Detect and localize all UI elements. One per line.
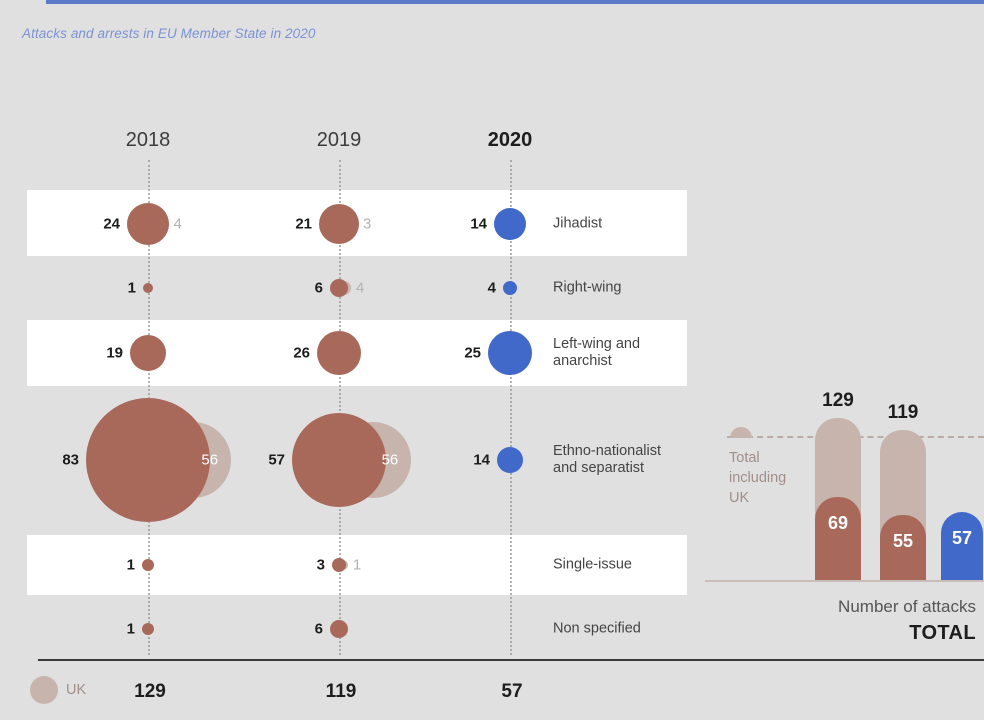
uk-value-2019-4: 1 [353,557,361,574]
eu-value-2018-3: 83 [62,452,79,469]
category-label-0[interactable]: Jihadist [553,216,602,233]
uk-value-2019-3: 56 [382,452,399,469]
category-label-5[interactable]: Non specified [553,621,641,638]
eu-value-2020-0: 14 [470,216,487,233]
eu-bubble-2020-3[interactable] [497,447,523,473]
eu-bubble-2018-5[interactable] [142,623,154,635]
eu-value-2018-2: 19 [106,345,123,362]
eu-bubble-2018-1[interactable] [143,283,153,293]
year-header-2019[interactable]: 2019 [317,129,362,152]
eu-value-2018-4: 1 [127,557,135,574]
eu-bubble-2019-4[interactable] [332,558,346,572]
eu-value-2018-1: 1 [128,280,136,297]
year-header-2020[interactable]: 2020 [488,129,533,152]
eu-value-2018-0: 24 [103,216,120,233]
bar-total-label-2019: 119 [888,402,919,424]
bar-total-label-2018: 129 [822,390,854,412]
column-total-2019: 119 [326,681,357,703]
eu-bubble-2020-1[interactable] [503,281,517,295]
bar-eu-label-2018: 69 [828,513,848,534]
eu-bubble-2019-1[interactable] [330,279,348,297]
infographic-root: Attacks and arrests in EU Member State i… [0,0,984,720]
eu-value-2018-5: 1 [127,621,135,638]
year-header-2018[interactable]: 2018 [126,129,171,152]
eu-bubble-2019-5[interactable] [330,620,348,638]
total-including-uk-note: Total including UK [729,448,786,508]
column-total-2018: 129 [134,681,166,703]
eu-bubble-2020-2[interactable] [488,331,532,375]
bar-eu-2018[interactable] [815,497,861,580]
eu-value-2019-3: 57 [268,452,285,469]
eu-value-2019-0: 21 [295,216,312,233]
column-total-2020: 57 [501,681,522,703]
eu-bubble-2019-0[interactable] [319,204,359,244]
uk-value-2019-1: 4 [356,280,364,297]
eu-bubble-2018-4[interactable] [142,559,154,571]
total-including-uk-marker-icon [730,427,752,438]
eu-value-2020-2: 25 [464,345,481,362]
eu-value-2020-1: 4 [488,280,496,297]
category-label-3[interactable]: Ethno-nationalist and separatist [553,443,661,477]
eu-value-2020-3: 14 [473,452,490,469]
eu-bubble-2018-2[interactable] [130,335,166,371]
bar-chart-baseline [705,580,984,582]
eu-bubble-2020-0[interactable] [494,208,526,240]
uk-value-2018-3: 56 [201,452,218,469]
eu-value-2019-2: 26 [293,345,310,362]
uk-value-2018-0: 4 [174,216,182,233]
category-label-2[interactable]: Left-wing and anarchist [553,336,640,370]
eu-bubble-2018-3[interactable] [86,398,210,522]
eu-bubble-2019-3[interactable] [292,413,386,507]
eu-bubble-2018-0[interactable] [127,203,169,245]
category-label-4[interactable]: Single-issue [553,557,632,574]
bar-eu-label-2020: 57 [952,528,972,549]
bar-chart-caption: Number of attacks [838,597,976,617]
page-title: Attacks and arrests in EU Member State i… [22,26,316,41]
totals-divider [38,659,984,661]
bar-chart-caption-total: TOTAL [909,622,976,645]
eu-bubble-2019-2[interactable] [317,331,361,375]
uk-legend-dot-icon [30,676,58,704]
uk-value-2019-0: 3 [363,216,371,233]
eu-value-2019-1: 6 [315,280,323,297]
bar-eu-label-2019: 55 [893,531,913,552]
eu-value-2019-5: 6 [315,621,323,638]
top-accent-rule [46,0,984,4]
category-label-1[interactable]: Right-wing [553,280,622,297]
eu-value-2019-4: 3 [317,557,325,574]
uk-legend-label: UK [66,682,86,698]
